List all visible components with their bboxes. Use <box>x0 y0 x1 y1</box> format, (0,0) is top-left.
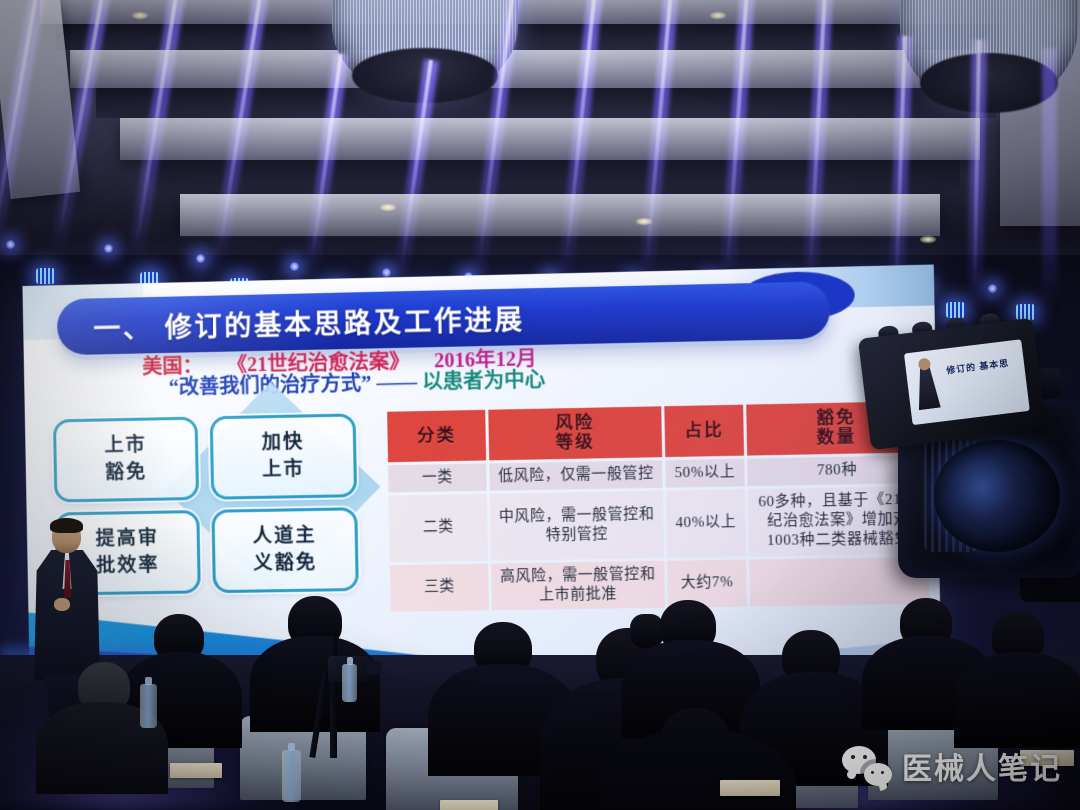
cell-classification: 二类 <box>389 494 488 562</box>
cell-proportion: 40%以上 <box>666 489 746 557</box>
slide-title: 一、 修订的基本思路及工作进展 <box>57 297 525 347</box>
photo-scene: 一、 修订的基本思路及工作进展 美国： 《21世纪治愈法案》 2016年12月 … <box>0 0 1080 810</box>
wechat-icon <box>842 746 892 786</box>
subtitle-dash: —— <box>376 372 417 395</box>
feature-box-4-line1: 人道主 <box>253 523 317 550</box>
foreground-video-camera: 修订的 基本思 <box>850 322 1080 722</box>
camera-lcd-panel: 修订的 基本思 <box>858 318 1046 451</box>
watermark: 医械人笔记 <box>842 744 1062 788</box>
subtitle-tagline: 以患者为中心 <box>422 369 545 394</box>
camera-lcd-screen: 修订的 基本思 <box>904 339 1030 425</box>
cell-proportion: 50%以上 <box>665 459 744 488</box>
table-header-classification: 分类 <box>387 410 486 463</box>
camera-lens <box>934 440 1060 552</box>
table-header-risk-level: 风险 等级 <box>488 406 662 460</box>
feature-box-2-line1: 加快 <box>261 430 304 457</box>
th3-l1: 占比 <box>667 419 742 440</box>
table-header-row: 分类 风险 等级 占比 豁免 数量 <box>387 401 927 462</box>
cell-risk-level: 中风险，需一般管控和特别管控 <box>490 491 664 560</box>
feature-box-2-line2: 上市 <box>262 456 305 483</box>
subtitle-country: 美国： <box>142 355 203 378</box>
camera-preview-text: 修订的 基本思 <box>946 357 1010 378</box>
cell-classification: 一类 <box>388 464 487 493</box>
th2-l2: 等级 <box>491 431 660 454</box>
table-row: 二类 中风险，需一般管控和特别管控 40%以上 60多种，且基于《21世纪治愈法… <box>389 486 929 562</box>
watermark-text: 医械人笔记 <box>902 744 1062 788</box>
feature-box-1-line1: 上市 <box>104 433 147 460</box>
th1-l1: 分类 <box>389 425 483 446</box>
feature-box-1: 上市 豁免 <box>53 417 199 503</box>
table-header-proportion: 占比 <box>664 405 744 458</box>
feature-box-1-line2: 豁免 <box>105 459 148 486</box>
feature-box-2: 加快 上市 <box>210 413 357 499</box>
cell-risk-level: 低风险，仅需一般管控 <box>489 460 662 491</box>
